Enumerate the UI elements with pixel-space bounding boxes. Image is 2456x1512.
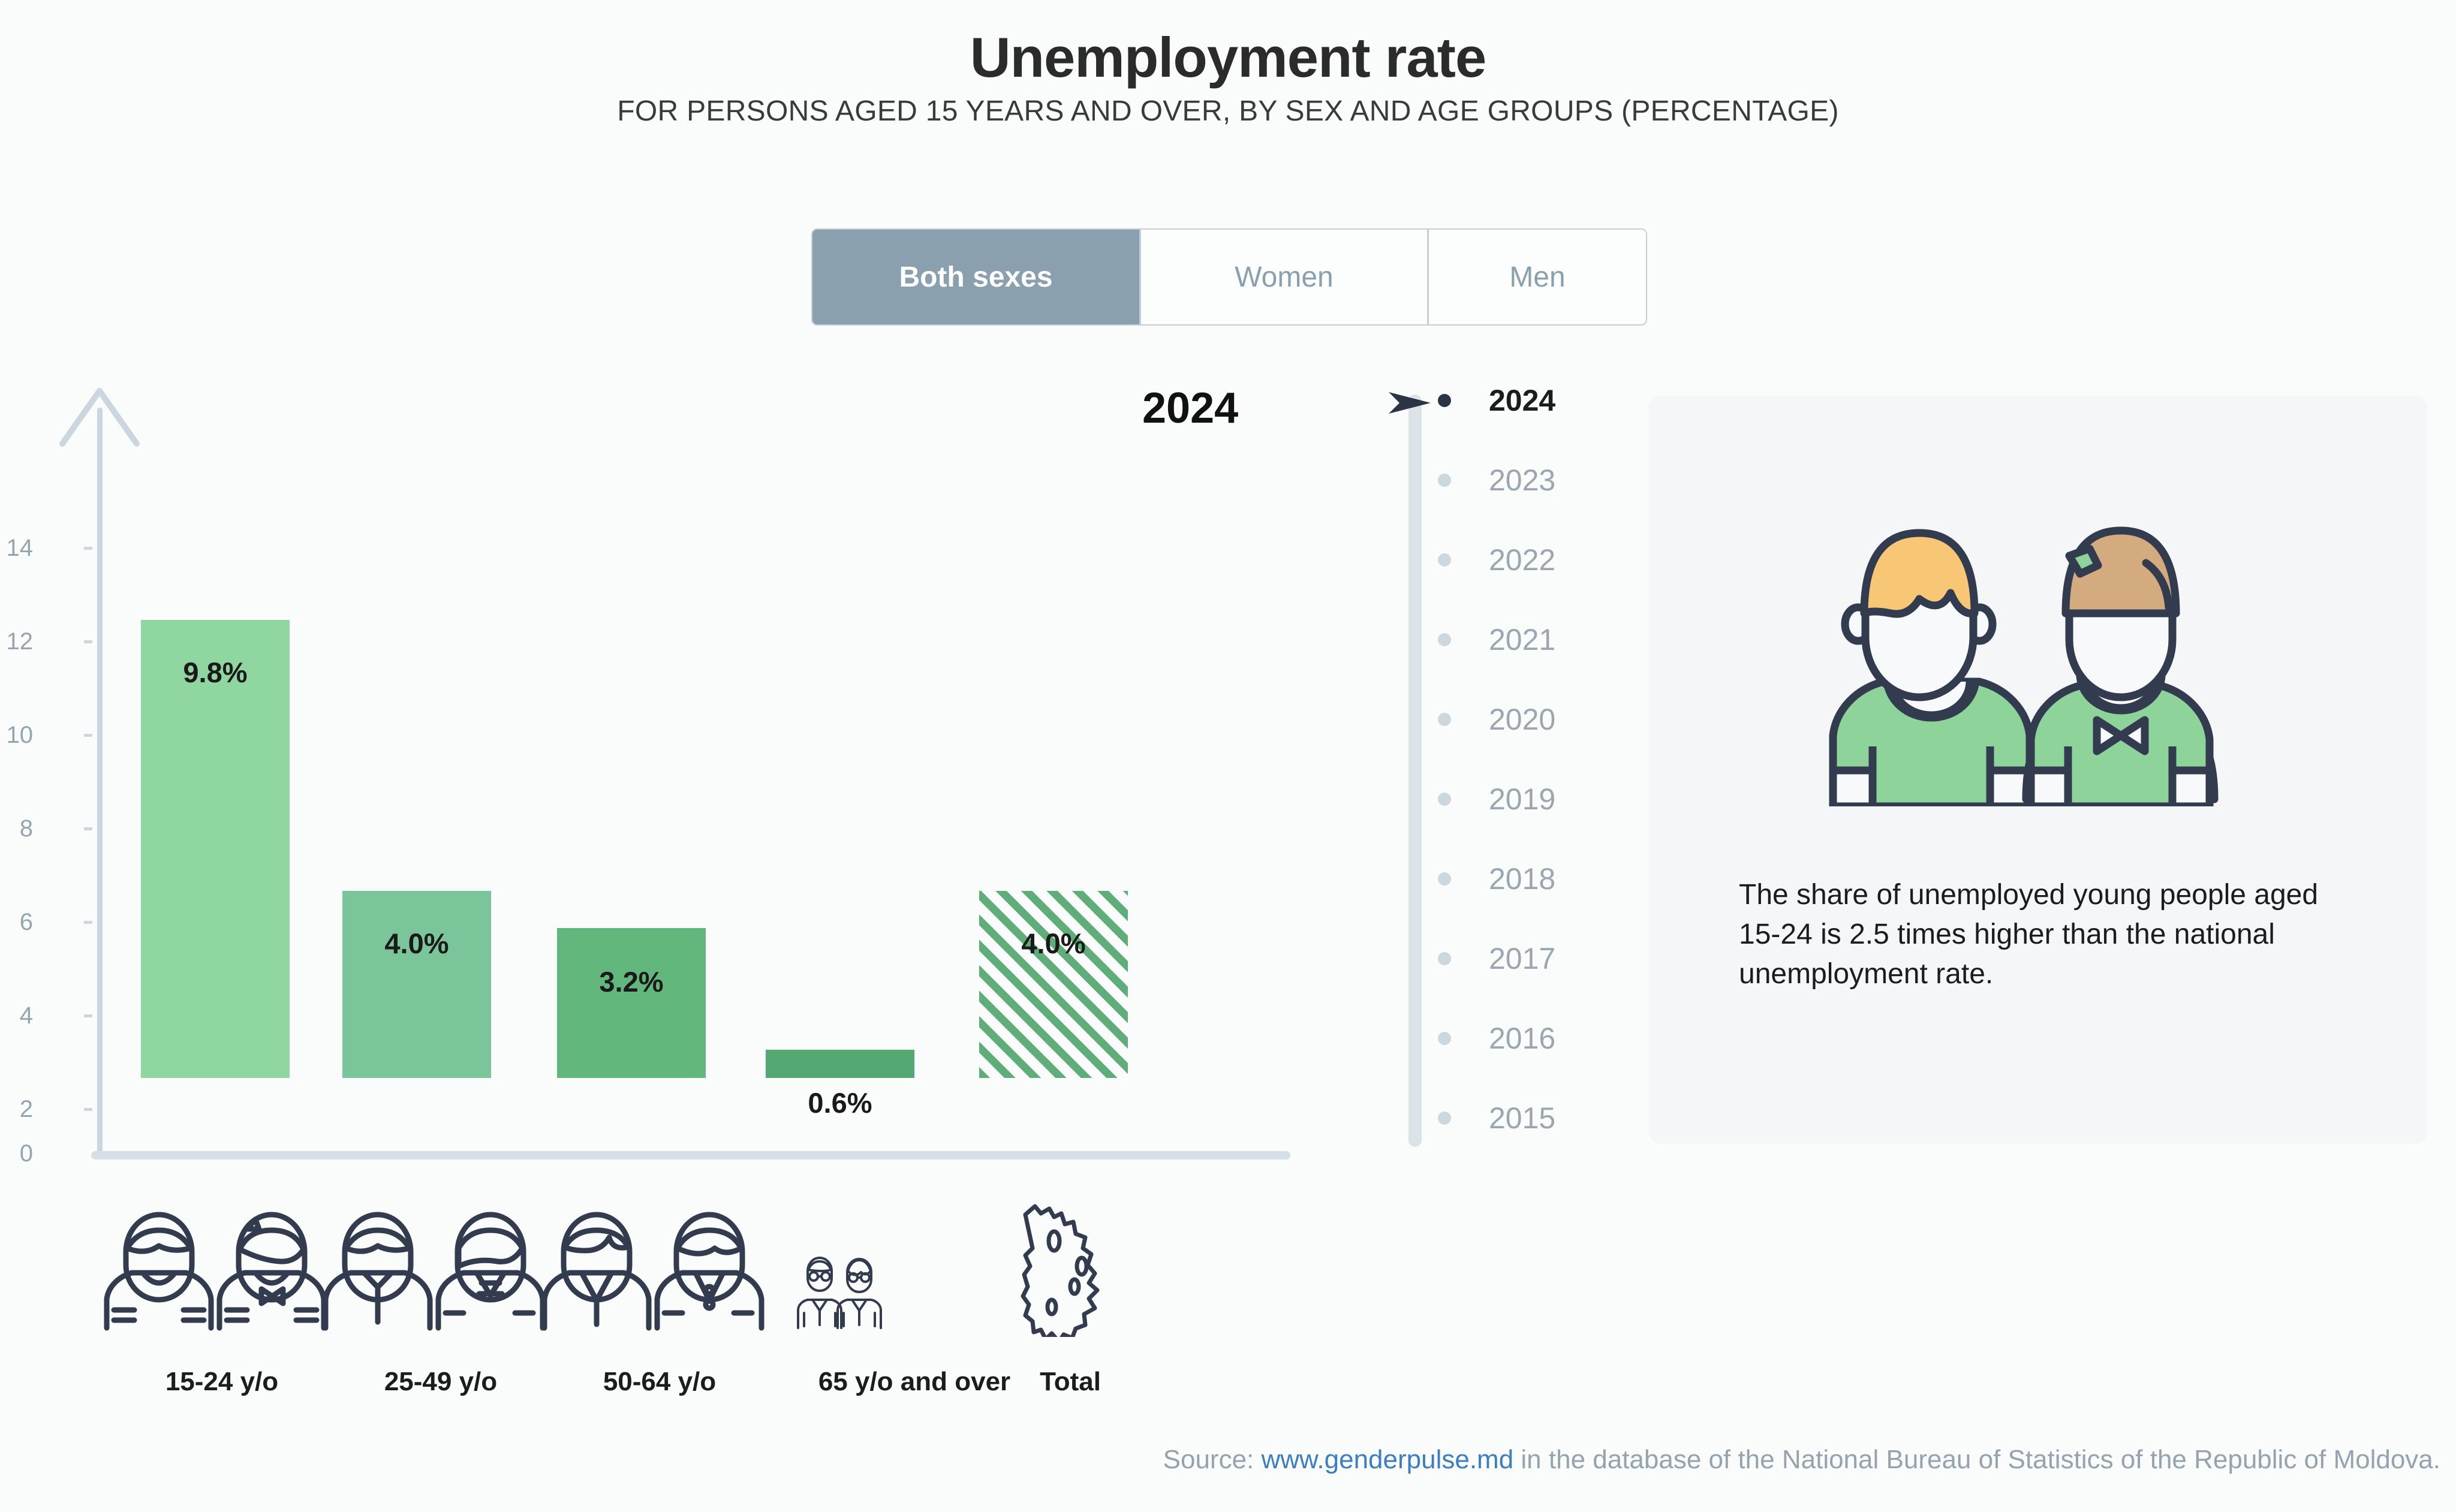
y-tick-mark (84, 547, 92, 550)
bar-25-49[interactable] (342, 891, 491, 1078)
page-title: Unemployment rate (0, 25, 2456, 90)
year-option-2015[interactable]: 2015 (1391, 1101, 1643, 1135)
year-dot (1438, 952, 1451, 965)
bar-chart: 14 12 10 8 6 4 2 0 9.8% 4.0% 3.2% 0.6% 4… (0, 360, 1379, 1199)
year-option-2022[interactable]: 2022 (1391, 543, 1643, 577)
unemployment-rate-dashboard: Unemployment rate FOR PERSONS AGED 15 YE… (0, 0, 2456, 1512)
y-tick-label: 14 (0, 535, 33, 562)
bar-total[interactable] (979, 891, 1128, 1078)
year-option-2017[interactable]: 2017 (1391, 942, 1643, 975)
y-tick-mark (84, 1014, 92, 1017)
y-tick-label: 6 (0, 909, 33, 936)
source-footer: Source: www.genderpulse.md in the databa… (0, 1445, 2440, 1475)
year-dot (1438, 1112, 1451, 1125)
year-dot (1438, 394, 1451, 407)
moldova-map-icon (1007, 1199, 1133, 1337)
y-tick-label: 0 (0, 1140, 33, 1167)
year-dot (1438, 1032, 1451, 1045)
year-dot (1438, 793, 1451, 806)
bar-value-25-49: 4.0% (342, 927, 491, 960)
year-label: 2020 (1489, 702, 1555, 737)
year-option-2023[interactable]: 2023 (1391, 463, 1643, 497)
young-couple-icon (96, 1205, 348, 1331)
source-link[interactable]: www.genderpulse.md (1262, 1445, 1514, 1474)
x-axis-baseline (91, 1151, 1290, 1159)
y-tick-mark (84, 734, 92, 737)
year-option-2021[interactable]: 2021 (1391, 623, 1643, 656)
bar-value-total: 4.0% (979, 927, 1128, 960)
source-suffix: in the database of the National Bureau o… (1513, 1445, 2440, 1474)
y-tick-label: 12 (0, 628, 33, 655)
year-label: 2023 (1489, 463, 1555, 498)
bar-value-50-64: 3.2% (557, 965, 706, 998)
year-label: 2016 (1489, 1021, 1555, 1056)
year-option-2019[interactable]: 2019 (1391, 782, 1643, 816)
year-label: 2019 (1489, 782, 1555, 817)
year-label: 2024 (1489, 383, 1555, 418)
y-tick-label: 4 (0, 1002, 33, 1029)
year-dot (1438, 633, 1451, 646)
info-panel: The share of unemployed young people age… (1649, 396, 2427, 1144)
tab-men[interactable]: Men (1429, 230, 1646, 324)
year-dot (1438, 474, 1451, 487)
y-axis-line (97, 408, 103, 1154)
year-option-2016[interactable]: 2016 (1391, 1022, 1643, 1055)
bar-value-65-and-over: 0.6% (766, 1086, 914, 1119)
info-text: The share of unemployed young people age… (1739, 875, 2338, 995)
y-tick-mark (84, 921, 92, 924)
bar-65-and-over[interactable] (766, 1050, 914, 1078)
elderly-couple-icon (794, 1247, 884, 1331)
source-prefix: Source: (1163, 1445, 1262, 1474)
year-option-2018[interactable]: 2018 (1391, 862, 1643, 896)
y-tick-label: 2 (0, 1096, 33, 1123)
category-label-total: Total (998, 1367, 1142, 1397)
year-label: 2015 (1489, 1101, 1555, 1135)
y-tick-mark (84, 1108, 92, 1111)
tab-women[interactable]: Women (1141, 230, 1429, 324)
tab-both-sexes[interactable]: Both sexes (812, 230, 1141, 324)
y-tick-mark (84, 640, 92, 643)
y-tick-mark (84, 827, 92, 830)
page-subtitle: FOR PERSONS AGED 15 YEARS AND OVER, BY S… (0, 95, 2456, 128)
boy-and-girl-icon (1802, 507, 2222, 806)
year-selector: 2024 2023 2022 2021 2020 2019 2018 2017 (1391, 384, 1643, 1163)
sex-tab-group: Both sexes Women Men (812, 230, 1646, 324)
year-label: 2018 (1489, 862, 1555, 896)
year-dot (1438, 553, 1451, 567)
year-label: 2021 (1489, 622, 1555, 657)
adult-couple-icon (315, 1205, 567, 1331)
year-label: 2022 (1489, 543, 1555, 577)
bar-value-15-24: 9.8% (141, 656, 290, 689)
year-label: 2017 (1489, 941, 1555, 976)
y-tick-label: 10 (0, 722, 33, 749)
mature-couple-icon (534, 1205, 785, 1331)
y-tick-label: 8 (0, 815, 33, 842)
year-dot (1438, 713, 1451, 726)
year-dot (1438, 872, 1451, 885)
year-option-2020[interactable]: 2020 (1391, 703, 1643, 736)
year-option-2024[interactable]: 2024 (1391, 384, 1643, 417)
bar-50-64[interactable] (557, 928, 706, 1078)
